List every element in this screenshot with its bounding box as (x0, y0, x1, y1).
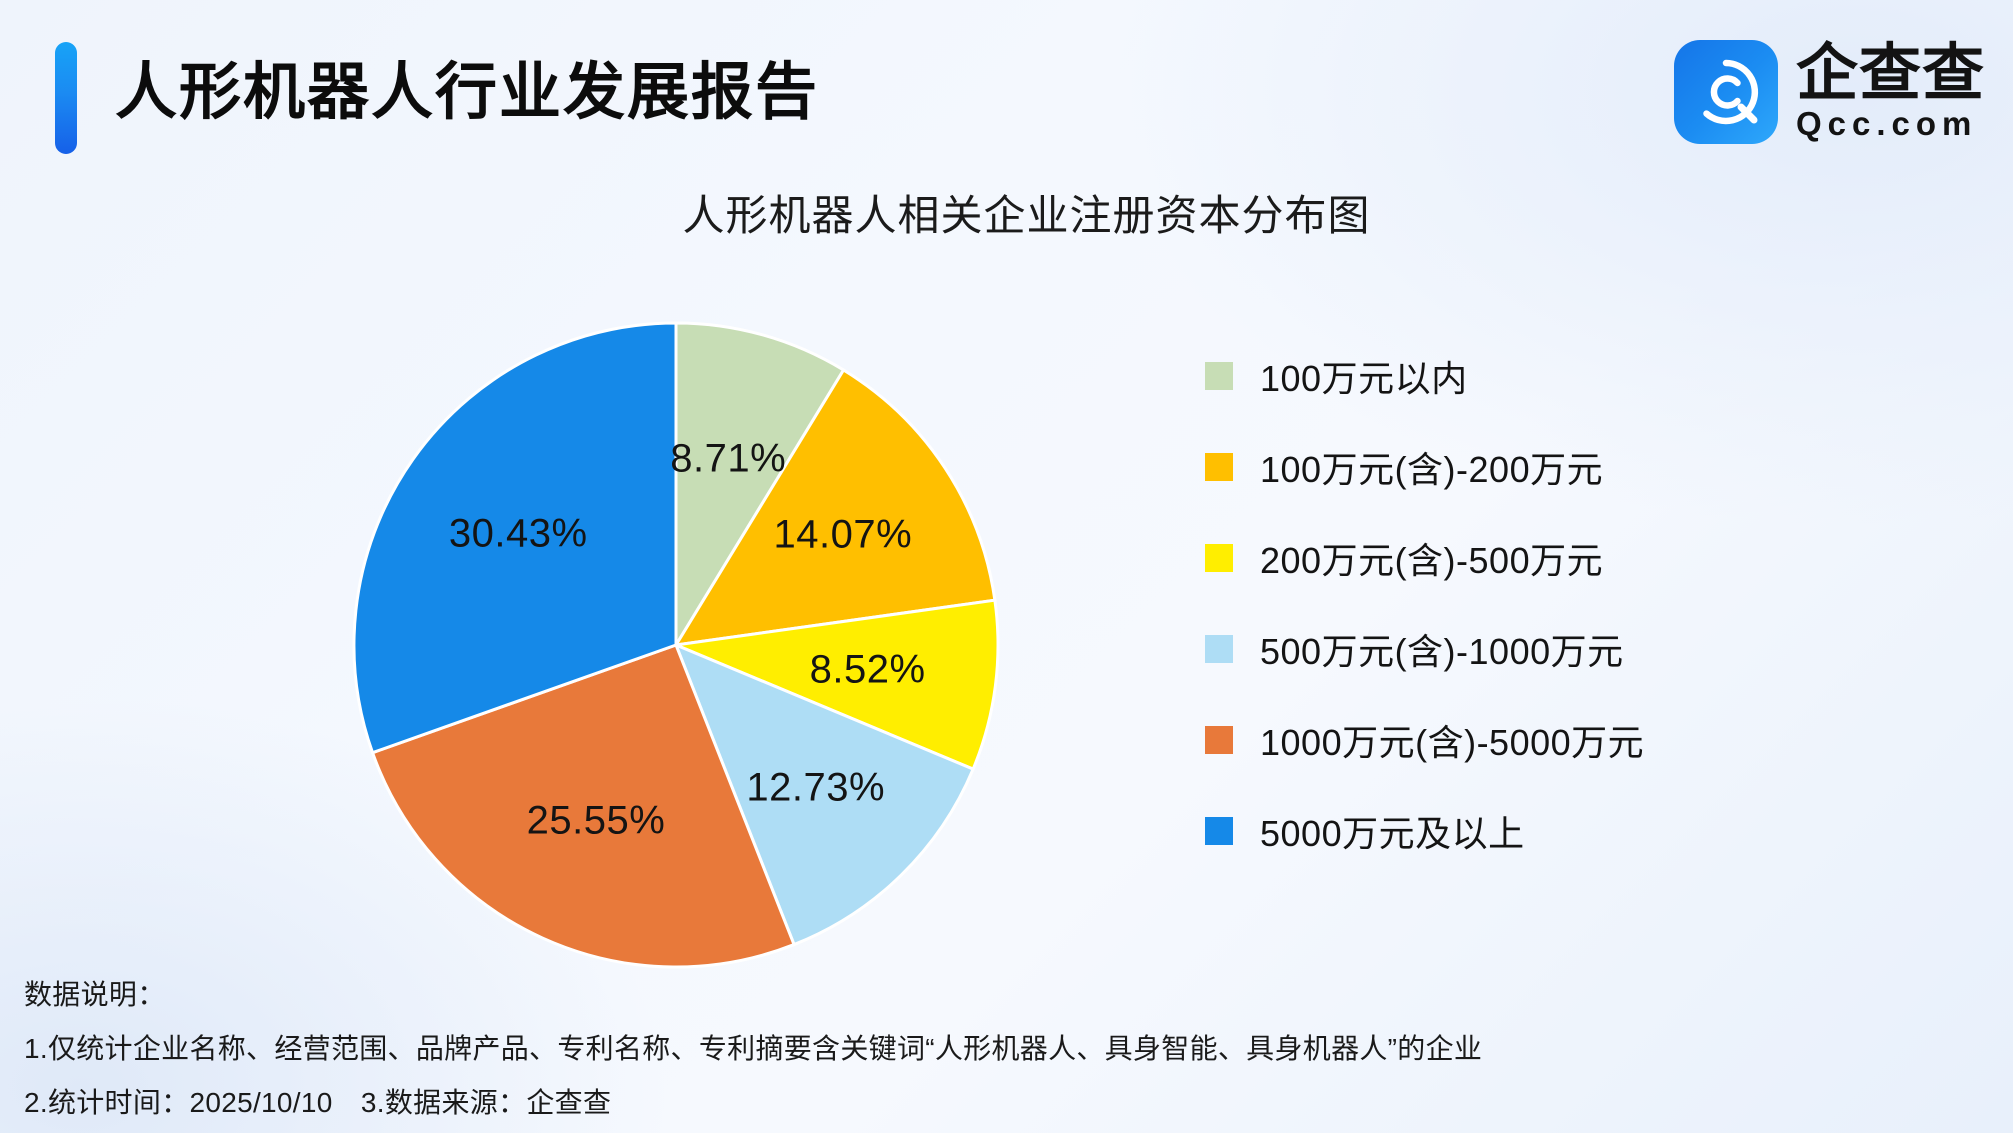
legend-swatch-icon (1205, 362, 1233, 390)
footnote-line-2: 2.统计时间：2025/10/10 3.数据来源：企查查 (24, 1076, 1724, 1130)
legend-item-label: 1000万元(含)-5000万元 (1260, 714, 1644, 766)
brand-name-en: Qcc.com (1796, 106, 1985, 142)
pie-chart-svg (351, 320, 1001, 970)
report-page: 人形机器人行业发展报告 企查查 Qcc.com 人形机器人相关企业注册资本分布图… (0, 0, 2013, 1133)
legend-item[interactable]: 500万元(含)-1000万元 (1205, 603, 1765, 694)
brand-logo: 企查查 Qcc.com (1674, 36, 1985, 148)
legend-item-label: 100万元以内 (1260, 350, 1468, 402)
legend-item-label: 5000万元及以上 (1260, 805, 1525, 857)
pie-slice-value-label: 12.73% (746, 765, 885, 810)
chart-title: 人形机器人相关企业注册资本分布图 (0, 182, 2013, 243)
footnote-line-1: 1.仅统计企业名称、经营范围、品牌产品、专利名称、专利摘要含关键词“人形机器人、… (24, 1022, 1724, 1076)
legend-item[interactable]: 5000万元及以上 (1205, 785, 1765, 876)
footnotes: 数据说明： 1.仅统计企业名称、经营范围、品牌产品、专利名称、专利摘要含关键词“… (24, 968, 1724, 1130)
pie-slices (354, 323, 998, 967)
pie-slice-value-label: 25.55% (527, 798, 666, 843)
legend-item[interactable]: 100万元以内 (1205, 330, 1765, 421)
brand-name-cn: 企查查 (1796, 42, 1985, 106)
chart-legend: 100万元以内100万元(含)-200万元200万元(含)-500万元500万元… (1205, 330, 1765, 876)
legend-swatch-icon (1205, 453, 1233, 481)
legend-swatch-icon (1205, 817, 1233, 845)
legend-swatch-icon (1205, 544, 1233, 572)
legend-item-label: 100万元(含)-200万元 (1260, 441, 1603, 493)
legend-item[interactable]: 1000万元(含)-5000万元 (1205, 694, 1765, 785)
pie-slice-value-label: 30.43% (449, 511, 588, 556)
qcc-magnifier-logo-icon (1674, 40, 1778, 144)
legend-item-label: 200万元(含)-500万元 (1260, 532, 1603, 584)
title-accent-bar (55, 42, 77, 154)
footnote-heading: 数据说明： (24, 968, 1724, 1022)
brand-text: 企查查 Qcc.com (1796, 42, 1985, 142)
legend-item[interactable]: 200万元(含)-500万元 (1205, 512, 1765, 603)
legend-swatch-icon (1205, 726, 1233, 754)
pie-slice-value-label: 8.71% (670, 436, 786, 481)
page-title: 人形机器人行业发展报告 (115, 38, 819, 148)
legend-item-label: 500万元(含)-1000万元 (1260, 623, 1624, 675)
pie-chart: 8.71%14.07%8.52%12.73%25.55%30.43% (351, 320, 1001, 970)
legend-swatch-icon (1205, 635, 1233, 663)
pie-slice-value-label: 14.07% (773, 513, 912, 558)
chart-title-text: 人形机器人相关企业注册资本分布图 (642, 182, 1370, 243)
pie-slice-value-label: 8.52% (810, 647, 926, 692)
legend-item[interactable]: 100万元(含)-200万元 (1205, 421, 1765, 512)
